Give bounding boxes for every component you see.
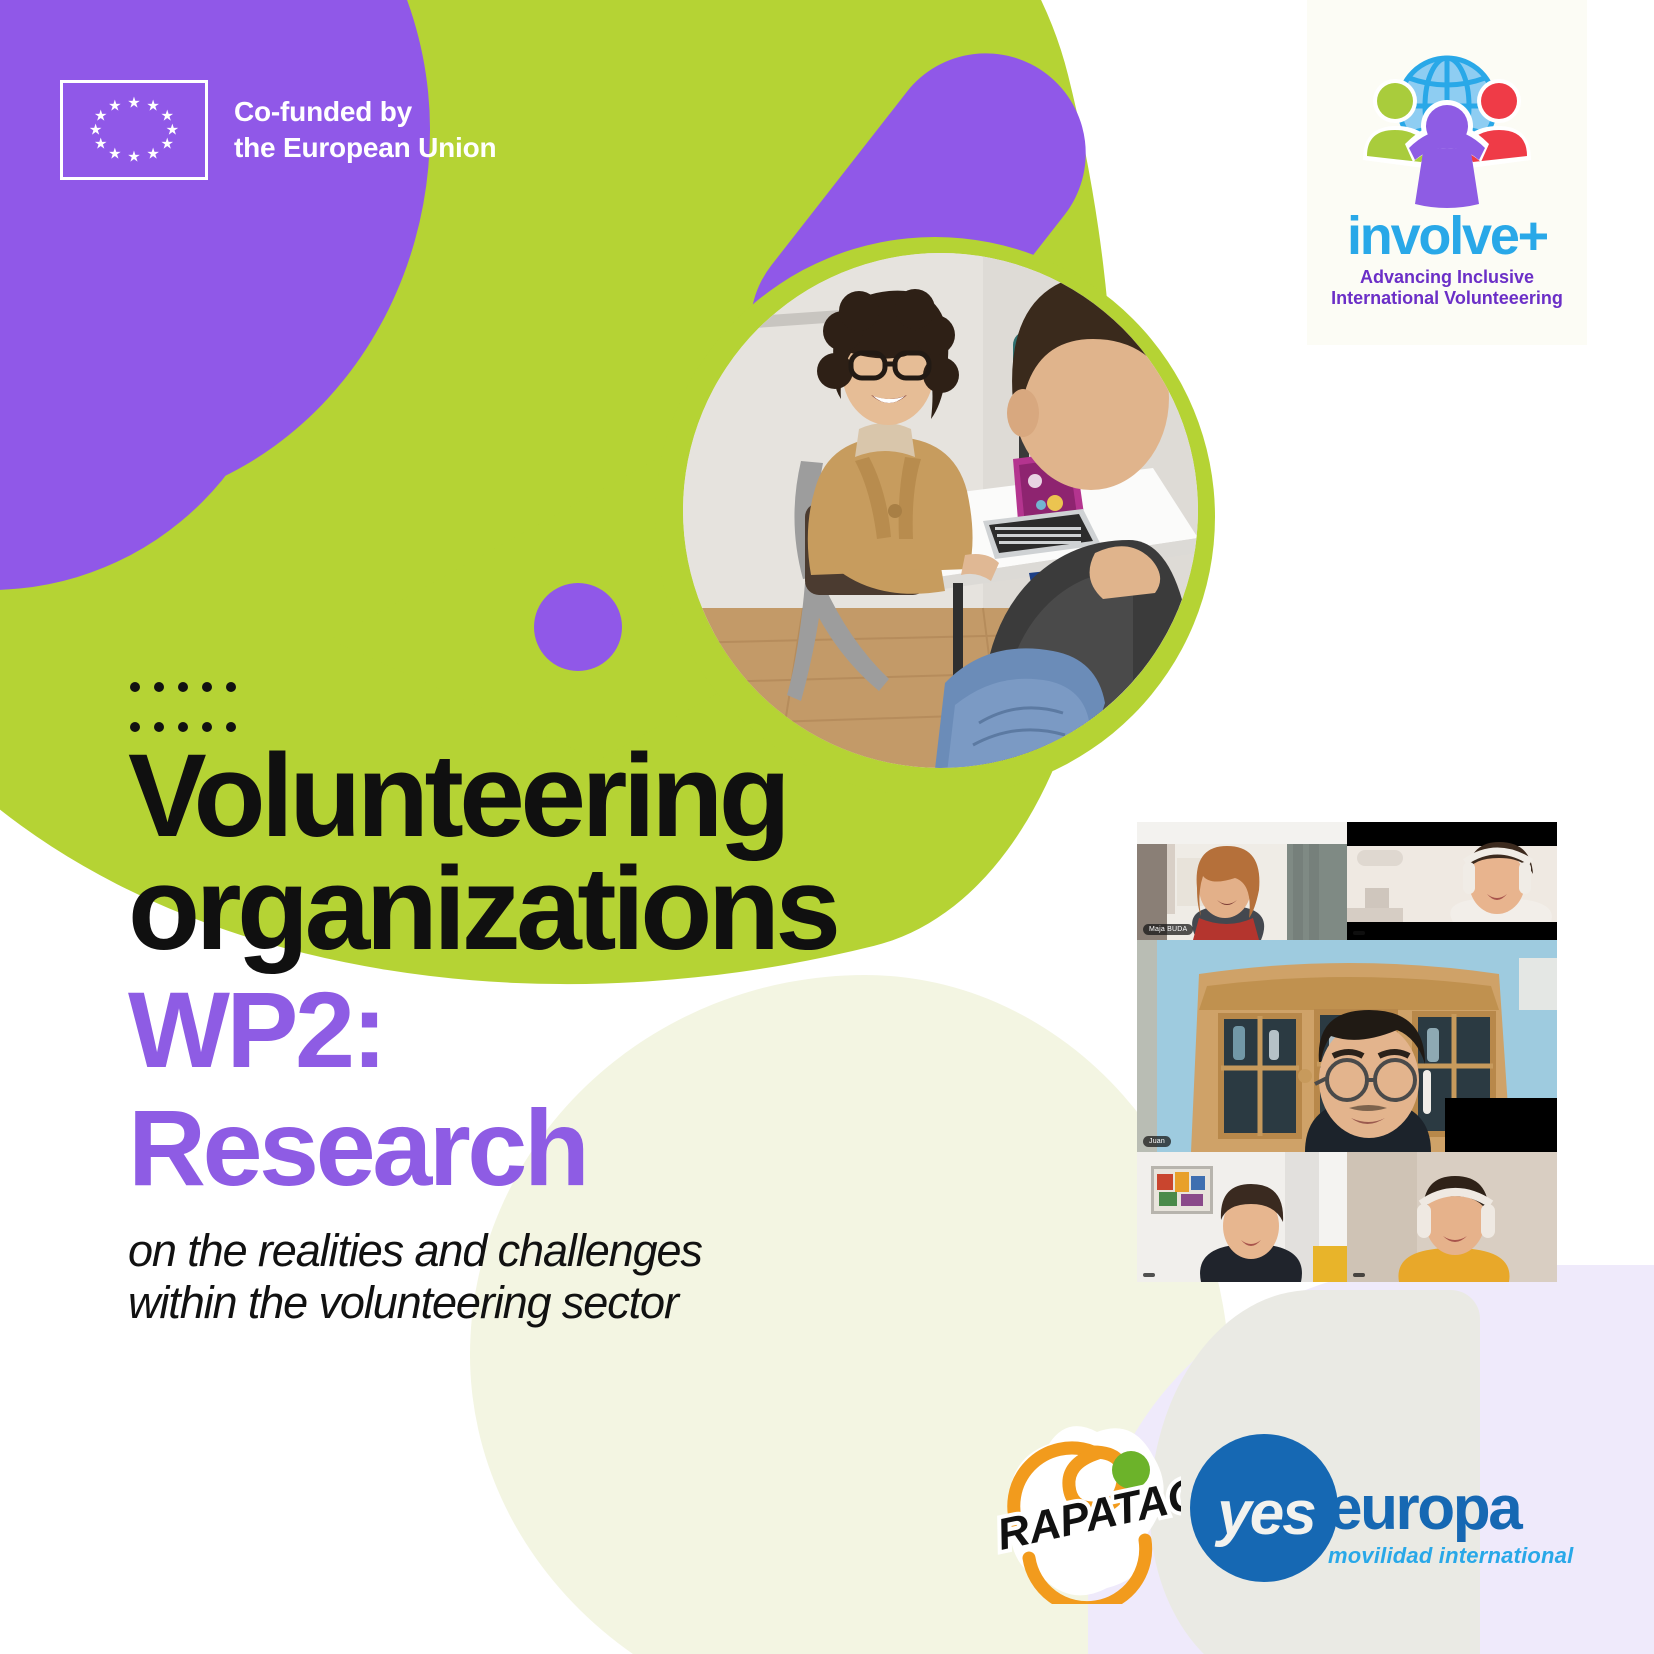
video-tile-label: Maja BUDA — [1143, 924, 1193, 935]
eu-cofunded-logo: ★★★★★★★★★★★★ Co-funded by the European U… — [60, 80, 496, 180]
eu-star-icon: ★ — [146, 99, 159, 114]
eu-flag-icon: ★★★★★★★★★★★★ — [60, 80, 208, 180]
video-call-screenshot: Maja BUDA — [1137, 822, 1557, 1282]
video-tile-bottom-right — [1347, 1152, 1557, 1282]
eu-cofunded-text: Co-funded by the European Union — [234, 94, 496, 166]
decoration-dot — [154, 682, 164, 692]
headline-subtitle: on the realities and challenges within t… — [128, 1225, 978, 1329]
purple-dot-shape — [534, 583, 622, 671]
yeseuropa-logo: yes europa movilidad international — [1190, 1434, 1573, 1582]
eu-star-icon: ★ — [127, 150, 140, 165]
eu-star-icon: ★ — [108, 146, 121, 161]
yes-circle-icon: yes — [1190, 1434, 1338, 1582]
video-tile-label: Juan — [1143, 1136, 1171, 1147]
video-tile-top-right — [1347, 822, 1557, 940]
video-tile-label — [1353, 931, 1365, 935]
decoration-dot — [178, 682, 188, 692]
involve-tagline: Advancing Inclusive International Volunt… — [1331, 267, 1563, 309]
video-tile-top-left: Maja BUDA — [1137, 822, 1347, 940]
eu-star-icon: ★ — [108, 99, 121, 114]
yes-wordmark: yes — [1217, 1483, 1314, 1545]
involve-globe-people-icon — [1347, 48, 1547, 213]
yeseuropa-tagline: movilidad international — [1328, 1543, 1573, 1569]
decoration-dot — [226, 682, 236, 692]
headline-line-3-wp2: WP2: — [128, 975, 978, 1085]
headline-block: Volunteering organizations WP2: Research… — [128, 740, 978, 1329]
eu-star-icon: ★ — [146, 146, 159, 161]
europa-wordmark: europa — [1328, 1480, 1573, 1537]
video-tile-label — [1143, 1273, 1155, 1277]
poster-canvas: ★★★★★★★★★★★★ Co-funded by the European U… — [0, 0, 1654, 1654]
decoration-dot — [202, 682, 212, 692]
rapatac-logo: RAPATAC — [985, 1408, 1181, 1604]
headline-line-4-research: Research — [128, 1093, 978, 1203]
eu-star-icon: ★ — [127, 95, 140, 110]
decoration-dot — [130, 682, 140, 692]
involve-logo-panel: involve+ Advancing Inclusive Internation… — [1307, 0, 1587, 345]
headline-line-1: Volunteering — [128, 740, 978, 853]
video-tile-middle-wide: Juan — [1137, 940, 1557, 1152]
video-tile-bottom-left — [1137, 1152, 1347, 1282]
involve-wordmark: involve+ — [1347, 209, 1547, 263]
video-tile-label — [1353, 1273, 1365, 1277]
eu-star-icon: ★ — [160, 136, 173, 151]
interview-photo — [683, 253, 1198, 768]
headline-line-2: organizations — [128, 853, 978, 966]
europa-block: europa movilidad international — [1328, 1480, 1573, 1569]
eu-star-icon: ★ — [94, 109, 107, 124]
